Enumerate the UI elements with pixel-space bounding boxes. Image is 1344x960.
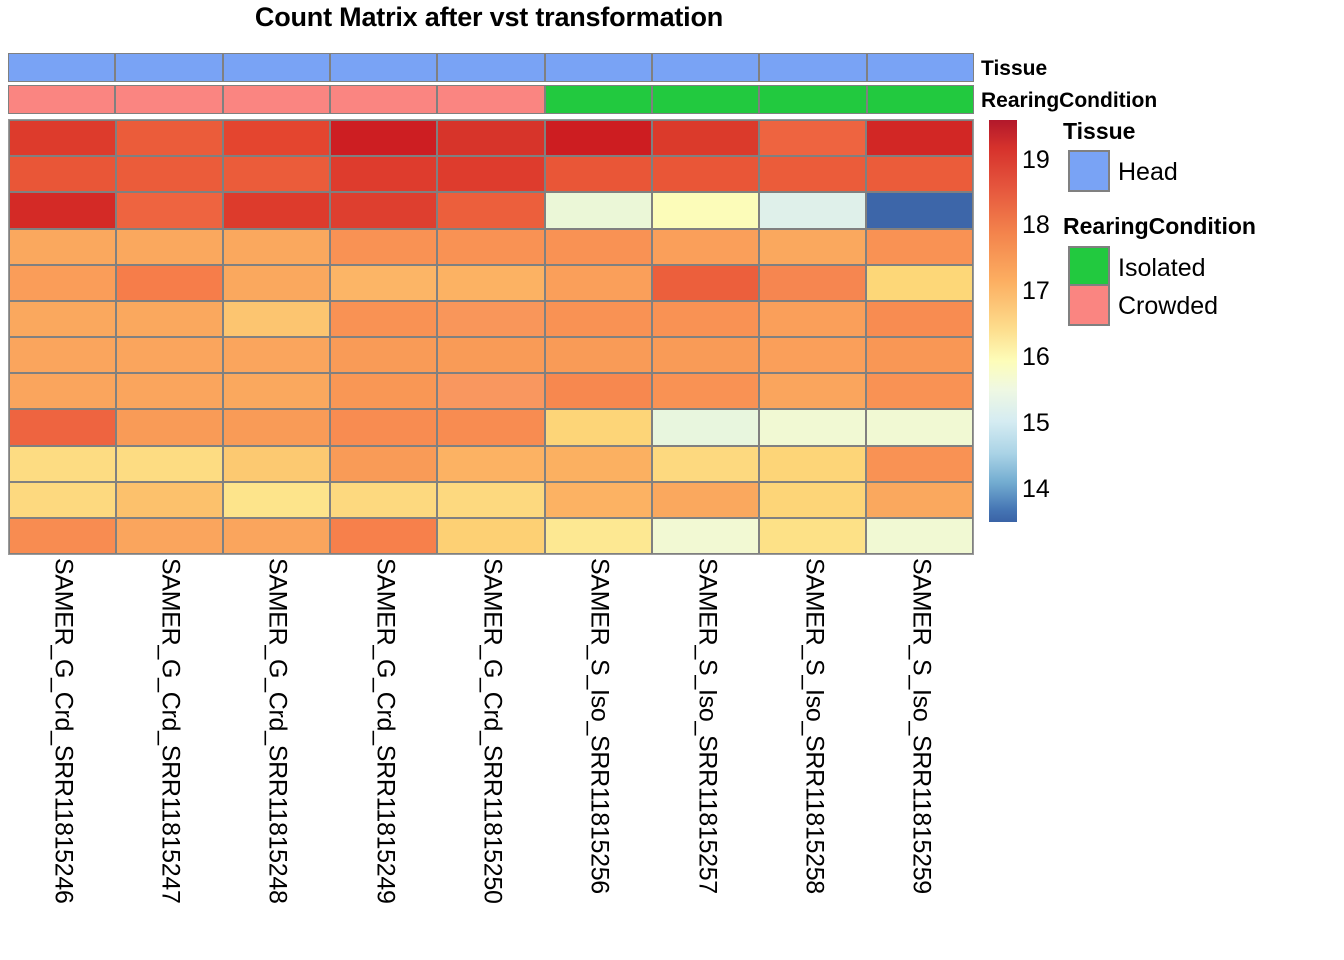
heatmap-cell — [545, 518, 652, 554]
heatmap-cell — [9, 120, 116, 156]
rearingcondition-annotation-cell — [545, 85, 652, 114]
column-label: SAMER_G_Crd_SRR11815246 — [48, 558, 77, 904]
heatmap-cell — [437, 446, 544, 482]
column-label-slot: SAMER_G_Crd_SRR11815250 — [437, 558, 544, 958]
heatmap-figure: Count Matrix after vst transformation Ti… — [0, 0, 1344, 960]
heatmap-cell — [330, 446, 437, 482]
heatmap-cell — [759, 156, 866, 192]
heatmap-cell — [437, 337, 544, 373]
rearingcondition-legend-title: RearingCondition — [1063, 215, 1256, 238]
heatmap-cell — [652, 192, 759, 228]
column-label: SAMER_S_Iso_SRR11815257 — [692, 558, 721, 894]
column-label: SAMER_G_Crd_SRR11815249 — [370, 558, 399, 904]
heatmap-cell — [223, 518, 330, 554]
column-label: SAMER_G_Crd_SRR11815248 — [263, 558, 292, 904]
heatmap-cell — [866, 337, 973, 373]
rearingcondition-legend-swatch — [1068, 246, 1110, 288]
heatmap-cell — [866, 482, 973, 518]
heatmap-cell — [330, 265, 437, 301]
heatmap-cell — [652, 373, 759, 409]
heatmap-cell — [223, 373, 330, 409]
tissue-annotation-cell — [867, 53, 974, 82]
heatmap-cell — [652, 409, 759, 445]
heatmap-cell — [759, 518, 866, 554]
heatmap-cell — [223, 156, 330, 192]
colorbar-tick-label: 19 — [1022, 148, 1050, 173]
heatmap-cell — [545, 446, 652, 482]
heatmap-cell — [116, 156, 223, 192]
heatmap-cell — [652, 518, 759, 554]
rearingcondition-annotation-bar — [8, 85, 974, 114]
heatmap-cell — [545, 409, 652, 445]
rearingcondition-legend-swatch — [1068, 284, 1110, 326]
page-title: Count Matrix after vst transformation — [0, 2, 978, 33]
heatmap-cell — [116, 409, 223, 445]
heatmap-cell — [223, 301, 330, 337]
heatmap-cell — [116, 337, 223, 373]
heatmap-cell — [330, 373, 437, 409]
heatmap-cell — [116, 482, 223, 518]
heatmap-cell — [9, 518, 116, 554]
heatmap-row — [9, 373, 973, 409]
heatmap-cell — [330, 229, 437, 265]
heatmap-cell — [759, 373, 866, 409]
heatmap-cell — [116, 229, 223, 265]
heatmap-cell — [759, 337, 866, 373]
heatmap-row — [9, 409, 973, 445]
heatmap-cell — [9, 446, 116, 482]
heatmap-cell — [9, 229, 116, 265]
colorbar-tick-label: 18 — [1022, 213, 1050, 238]
heatmap-cell — [866, 120, 973, 156]
column-label-slot: SAMER_S_Iso_SRR11815256 — [545, 558, 652, 958]
rearingcondition-legend-label: Crowded — [1118, 294, 1218, 319]
heatmap-cell — [330, 301, 437, 337]
heatmap-cell — [437, 229, 544, 265]
rearingcondition-annotation-cell — [652, 85, 759, 114]
heatmap-cell — [116, 446, 223, 482]
column-label: SAMER_S_Iso_SRR11815256 — [585, 558, 614, 894]
heatmap-cell — [116, 120, 223, 156]
heatmap-cell — [223, 482, 330, 518]
column-label: SAMER_S_Iso_SRR11815258 — [799, 558, 828, 894]
heatmap-cell — [652, 301, 759, 337]
heatmap-cell — [652, 265, 759, 301]
tissue-annotation-label: Tissue — [981, 58, 1047, 79]
heatmap-cell — [116, 373, 223, 409]
heatmap-cell — [330, 192, 437, 228]
heatmap-cell — [866, 409, 973, 445]
heatmap-cell — [437, 482, 544, 518]
heatmap-cell — [330, 518, 437, 554]
heatmap-cell — [866, 156, 973, 192]
rearingcondition-annotation-cell — [867, 85, 974, 114]
heatmap-cell — [545, 120, 652, 156]
tissue-annotation-bar — [8, 53, 974, 82]
heatmap-cell — [652, 337, 759, 373]
tissue-annotation-cell — [330, 53, 437, 82]
heatmap-cell — [437, 156, 544, 192]
heatmap-cell — [545, 156, 652, 192]
rearingcondition-annotation-label: RearingCondition — [981, 90, 1157, 111]
column-label-slot: SAMER_S_Iso_SRR11815258 — [759, 558, 866, 958]
heatmap-cell — [759, 446, 866, 482]
heatmap-cell — [759, 120, 866, 156]
heatmap-cell — [866, 373, 973, 409]
tissue-annotation-cell — [8, 53, 115, 82]
rearingcondition-annotation-cell — [8, 85, 115, 114]
tissue-annotation-cell — [223, 53, 330, 82]
heatmap-cell — [759, 265, 866, 301]
heatmap-cell — [437, 518, 544, 554]
rearingcondition-annotation-cell — [437, 85, 544, 114]
column-label-slot: SAMER_G_Crd_SRR11815246 — [8, 558, 115, 958]
tissue-annotation-cell — [115, 53, 222, 82]
heatmap-cell — [759, 301, 866, 337]
heatmap-cell — [759, 192, 866, 228]
heatmap-cell — [545, 265, 652, 301]
heatmap-cell — [9, 156, 116, 192]
rearingcondition-legend-label: Isolated — [1118, 256, 1206, 281]
heatmap-cell — [866, 301, 973, 337]
heatmap-row — [9, 120, 973, 156]
heatmap-cell — [9, 482, 116, 518]
tissue-legend-swatch — [1068, 150, 1110, 192]
colorbar-tick-label: 17 — [1022, 279, 1050, 304]
heatmap-cell — [223, 409, 330, 445]
heatmap-row — [9, 446, 973, 482]
heatmap-cell — [759, 409, 866, 445]
heatmap-cell — [545, 229, 652, 265]
heatmap-cell — [437, 192, 544, 228]
heatmap-cell — [9, 301, 116, 337]
heatmap-cell — [652, 229, 759, 265]
heatmap-row — [9, 518, 973, 554]
heatmap-row — [9, 229, 973, 265]
heatmap-cell — [652, 482, 759, 518]
column-label-slot: SAMER_S_Iso_SRR11815259 — [867, 558, 974, 958]
heatmap-cell — [9, 373, 116, 409]
heatmap-row — [9, 301, 973, 337]
heatmap-cell — [759, 482, 866, 518]
tissue-legend-title: Tissue — [1063, 120, 1135, 143]
tissue-annotation-cell — [652, 53, 759, 82]
heatmap-cell — [545, 337, 652, 373]
heatmap-cell — [545, 301, 652, 337]
heatmap-cell — [545, 192, 652, 228]
heatmap-cell — [437, 409, 544, 445]
heatmap-cell — [116, 301, 223, 337]
heatmap-cell — [9, 192, 116, 228]
heatmap-cell — [652, 446, 759, 482]
heatmap-row — [9, 192, 973, 228]
rearingcondition-annotation-cell — [223, 85, 330, 114]
heatmap-cell — [866, 518, 973, 554]
colorbar-tick-label: 15 — [1022, 411, 1050, 436]
heatmap-cell — [330, 156, 437, 192]
heatmap-grid — [8, 119, 974, 555]
heatmap-cell — [866, 229, 973, 265]
heatmap-cell — [437, 373, 544, 409]
vst-colorbar — [989, 120, 1017, 522]
heatmap-cell — [9, 265, 116, 301]
heatmap-cell — [223, 337, 330, 373]
colorbar-tick-label: 16 — [1022, 345, 1050, 370]
heatmap-row — [9, 482, 973, 518]
heatmap-row — [9, 156, 973, 192]
heatmap-cell — [652, 156, 759, 192]
heatmap-cell — [223, 192, 330, 228]
heatmap-cell — [223, 229, 330, 265]
heatmap-cell — [116, 192, 223, 228]
heatmap-cell — [223, 120, 330, 156]
heatmap-cell — [330, 120, 437, 156]
column-label: SAMER_G_Crd_SRR11815247 — [155, 558, 184, 904]
heatmap-cell — [116, 265, 223, 301]
heatmap-cell — [759, 229, 866, 265]
heatmap-cell — [330, 409, 437, 445]
heatmap-cell — [9, 337, 116, 373]
column-labels: SAMER_G_Crd_SRR11815246SAMER_G_Crd_SRR11… — [8, 558, 974, 958]
colorbar-tick-label: 14 — [1022, 477, 1050, 502]
heatmap-cell — [437, 301, 544, 337]
heatmap-cell — [9, 409, 116, 445]
heatmap-cell — [866, 192, 973, 228]
column-label-slot: SAMER_G_Crd_SRR11815247 — [115, 558, 222, 958]
column-label-slot: SAMER_G_Crd_SRR11815249 — [330, 558, 437, 958]
column-label-slot: SAMER_G_Crd_SRR11815248 — [223, 558, 330, 958]
rearingcondition-annotation-cell — [115, 85, 222, 114]
tissue-annotation-cell — [437, 53, 544, 82]
rearingcondition-annotation-cell — [759, 85, 866, 114]
heatmap-cell — [223, 265, 330, 301]
rearingcondition-annotation-cell — [330, 85, 437, 114]
heatmap-cell — [545, 482, 652, 518]
tissue-annotation-cell — [759, 53, 866, 82]
heatmap-cell — [652, 120, 759, 156]
heatmap-cell — [545, 373, 652, 409]
tissue-legend-label: Head — [1118, 160, 1178, 185]
heatmap-cell — [223, 446, 330, 482]
heatmap-cell — [866, 446, 973, 482]
column-label-slot: SAMER_S_Iso_SRR11815257 — [652, 558, 759, 958]
heatmap-cell — [437, 120, 544, 156]
heatmap-cell — [116, 518, 223, 554]
heatmap-cell — [866, 265, 973, 301]
heatmap-row — [9, 337, 973, 373]
heatmap-row — [9, 265, 973, 301]
heatmap-cell — [330, 337, 437, 373]
column-label: SAMER_G_Crd_SRR11815250 — [477, 558, 506, 904]
tissue-annotation-cell — [545, 53, 652, 82]
heatmap-cell — [330, 482, 437, 518]
column-label: SAMER_S_Iso_SRR11815259 — [907, 558, 936, 894]
heatmap-cell — [437, 265, 544, 301]
